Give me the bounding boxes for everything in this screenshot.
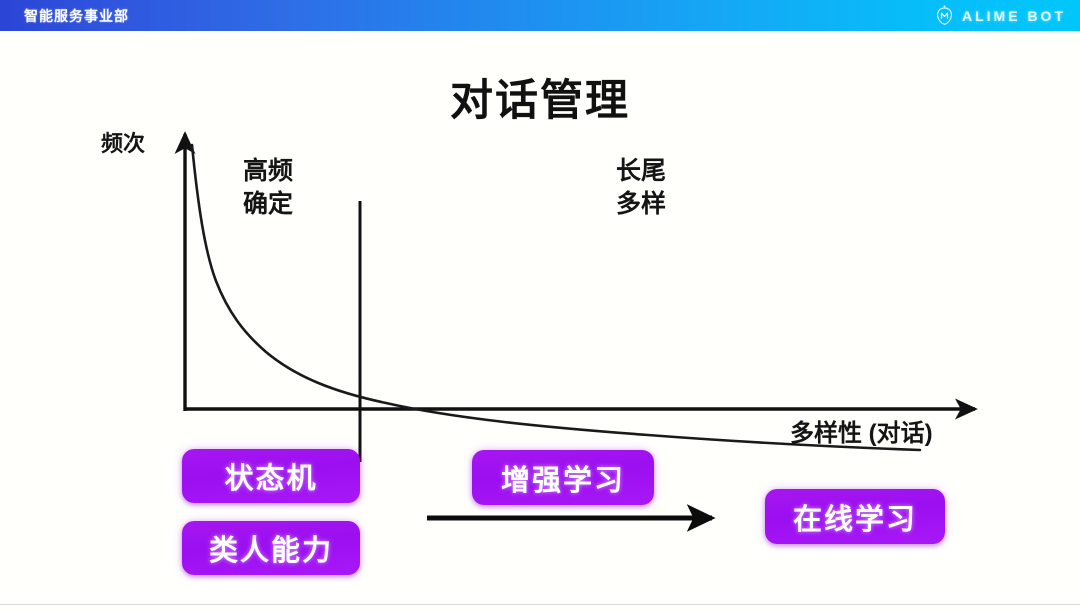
- x-axis-label: 多样性 (对话): [790, 418, 933, 450]
- alime-shield-bot-icon: [934, 5, 955, 26]
- y-axis-label: 频次: [101, 129, 145, 158]
- presentation-slide: 智能服务事业部 ALIME BOT 对话管理: [0, 0, 1080, 610]
- pill-state-machine[interactable]: 状态机: [182, 449, 360, 503]
- pill-reinforcement-learning[interactable]: 增强学习: [472, 450, 654, 505]
- pill-human-like-ability[interactable]: 类人能力: [182, 521, 360, 575]
- bottom-divider: [0, 604, 1080, 605]
- annotation-long-tail: 长尾 多样: [616, 155, 666, 221]
- annotation-high-frequency: 高频 确定: [243, 155, 293, 221]
- brand-name: ALIME BOT: [962, 8, 1066, 24]
- department-title: 智能服务事业部: [24, 6, 129, 26]
- brand-logo: ALIME BOT: [934, 5, 1066, 26]
- long-tail-curve: [192, 145, 920, 450]
- header-bar: 智能服务事业部 ALIME BOT: [0, 0, 1080, 31]
- page-title: 对话管理: [0, 66, 1080, 128]
- pill-online-learning[interactable]: 在线学习: [765, 489, 945, 544]
